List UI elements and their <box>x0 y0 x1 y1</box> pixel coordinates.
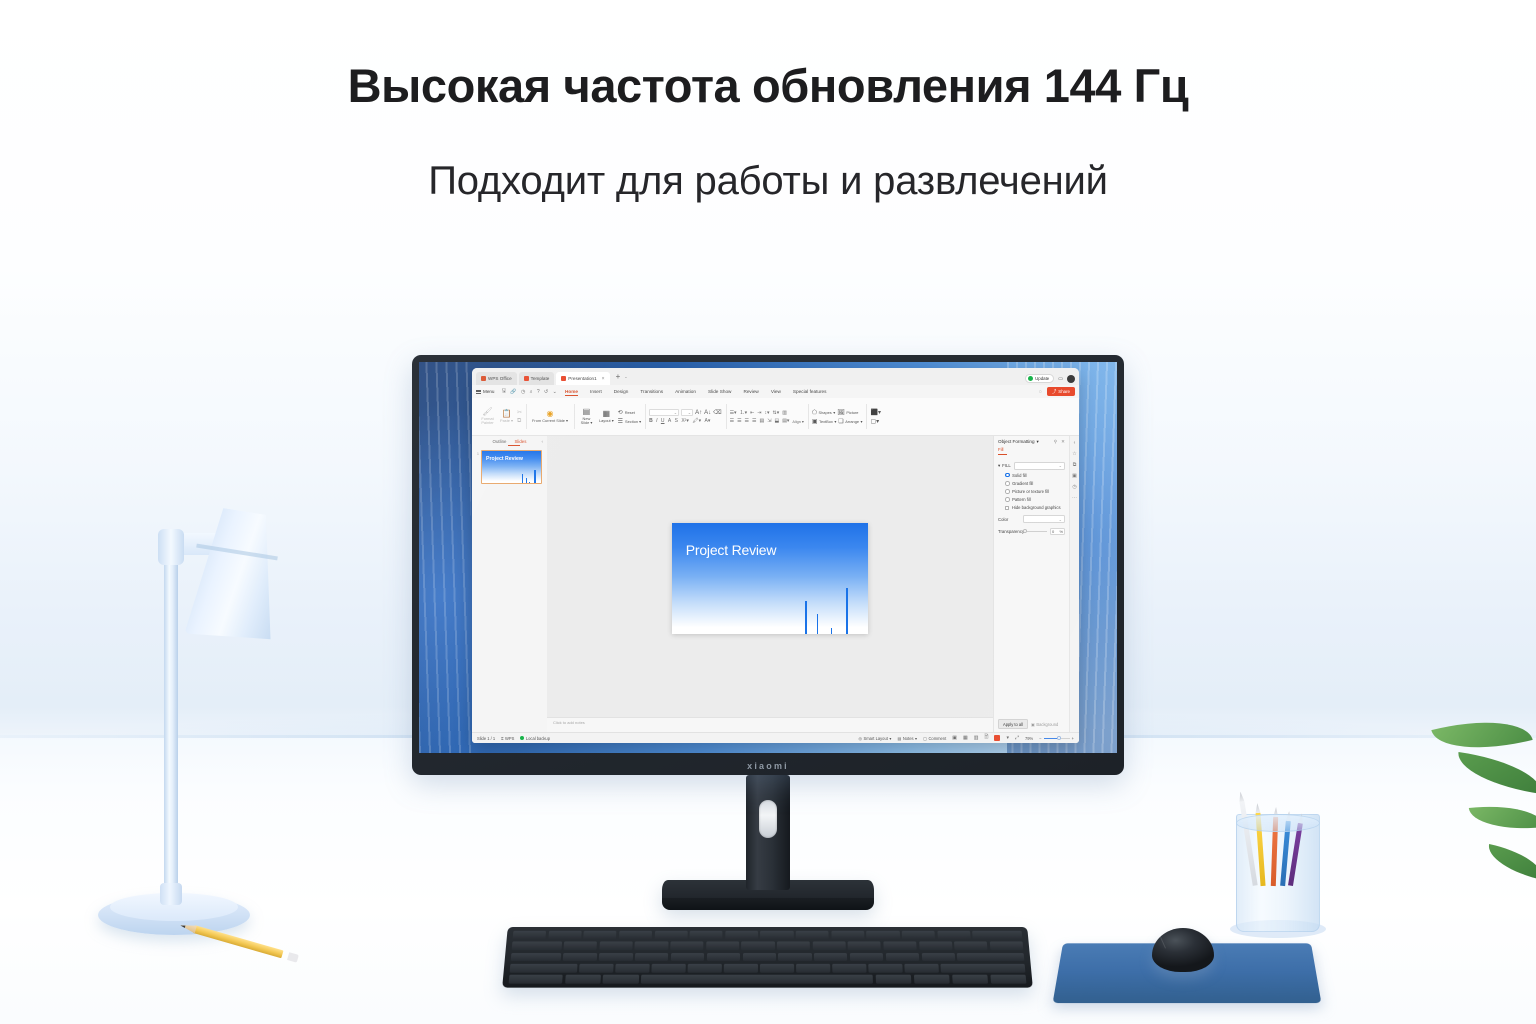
desk-lamp <box>74 495 274 935</box>
text-frame-button[interactable]: ▤▾ <box>782 418 789 424</box>
ribbon-tab-slide-show[interactable]: Slide Show <box>702 389 737 394</box>
font-color-button[interactable]: A▾ <box>705 418 711 424</box>
picture-button[interactable]: 🖼 Picture <box>837 409 858 416</box>
key <box>724 964 758 973</box>
object-formatting-panel: Object Formatting ▾ ⚲ ✕ Fill ▾ FILL <box>993 436 1069 732</box>
font-controls: ⌄ ⌄ A↑ A↓ ⌫ B I U A S X²▾ <box>649 409 722 424</box>
textbox-label: TextBox <box>819 419 833 424</box>
ribbon-tab-transitions[interactable]: Transitions <box>634 389 669 394</box>
key <box>866 931 899 939</box>
monitor-stand-cable-hole <box>759 800 777 838</box>
decrease-indent-button[interactable]: ⇤ <box>750 410 754 416</box>
ribbon-right-controls: ◌ ⤴ Share <box>1037 387 1075 396</box>
transparency-unit: % <box>1059 529 1063 534</box>
decor-bar <box>526 478 527 484</box>
plant-leaf <box>1431 707 1532 763</box>
key <box>886 953 920 962</box>
transparency-label: Transparency <box>998 529 1020 534</box>
keyboard-row <box>510 964 1026 973</box>
paragraph-controls: ☰▾ ⒈▾ ⇤ ⇥ ↕▾ ⇅▾ ▥ ☰ ☰ ☰ ☰ <box>730 409 804 424</box>
key <box>635 942 668 951</box>
copy-icon[interactable]: ⧉ <box>517 418 522 425</box>
image-icon[interactable]: ▣ <box>1072 473 1077 479</box>
drawing-row-bottom: ▣ TextBox▾ ❏ Arrange▾ <box>812 418 863 425</box>
slide-thumbnail[interactable]: Project Review <box>481 450 542 484</box>
promo-subheadline: Подходит для работы и развлечений <box>0 159 1536 204</box>
key <box>831 931 864 939</box>
key <box>548 931 581 939</box>
ribbon-tab-home[interactable]: Home <box>559 389 584 394</box>
fill-section-label: ▾ FILL <box>998 463 1011 469</box>
paste-icon: 📋 <box>502 410 512 418</box>
key <box>814 953 848 962</box>
fill-section-header-row: ▾ FILL ⌄ <box>998 462 1065 470</box>
lamp-shade <box>184 505 289 647</box>
copy-style-icon[interactable]: ⧉ <box>1073 462 1077 468</box>
zoom-slider[interactable]: − + <box>1039 736 1074 741</box>
option-label: Pattern fill <box>1012 497 1031 502</box>
align-center-button[interactable]: ☰ <box>737 418 741 424</box>
zoom-in-button[interactable]: + <box>1072 736 1074 741</box>
slide-panel-tabs: Outline Slides ‹ <box>472 436 547 447</box>
from-current-slide-label: From Current Slide ▾ <box>532 419 568 423</box>
ribbon-tab-bar: Menu 🖫 🔗 ◷ ⌕ ? ↺ ⌄ Home Insert Design Tr… <box>472 385 1079 398</box>
collapse-panel-icon[interactable]: ‹ <box>1074 440 1076 446</box>
house-plant <box>1416 700 1536 940</box>
option-solid-fill[interactable]: Solid fill <box>998 473 1065 478</box>
zoom-level-label: 79% <box>1025 736 1033 741</box>
clock-icon[interactable]: ◷ <box>1072 484 1076 490</box>
wps-body: Outline Slides ‹ 1 Project Review <box>472 436 1079 732</box>
key <box>990 975 1026 984</box>
smart-align-button[interactable]: ⇲ <box>767 418 771 424</box>
ribbon-group-styles: ⬛▾ ▢▾ <box>866 400 884 433</box>
transparency-field: Transparency 0 % <box>994 528 1069 535</box>
play-slide-icon: ◉ <box>546 410 553 418</box>
text-shadow-button[interactable]: A <box>668 418 671 424</box>
key <box>952 975 988 984</box>
line-spacing-button[interactable]: ↕▾ <box>765 410 770 416</box>
key <box>510 964 578 973</box>
wps-status[interactable]: ⌗ WPS <box>501 736 514 741</box>
chevron-left-icon[interactable]: ‹ <box>542 439 544 444</box>
radio-icon[interactable] <box>1005 481 1010 486</box>
columns-button[interactable]: ▥ <box>782 410 787 416</box>
key <box>954 942 988 951</box>
background-icon: ▣ <box>1031 722 1035 727</box>
zoom-handle[interactable] <box>1057 736 1061 740</box>
text-direction-button[interactable]: ⇅▾ <box>773 410 780 416</box>
chevron-down-icon[interactable]: ▾ <box>1006 735 1009 741</box>
status-bar-right: ◎ Smart Layout ▾ ▤ Notes ▾ ▢ Comment ▣ ▦ <box>858 734 1074 742</box>
expand-caret-icon[interactable]: ▾ <box>998 463 1000 469</box>
slide-title-text[interactable]: Project Review <box>686 542 777 558</box>
radio-icon[interactable] <box>1005 497 1010 502</box>
key <box>564 942 598 951</box>
transparency-input[interactable]: 0 % <box>1050 528 1065 535</box>
close-icon[interactable]: ✕ <box>1061 439 1065 445</box>
slide-thumbnail-panel: Outline Slides ‹ 1 Project Review <box>472 436 547 732</box>
section-button[interactable]: ☰ Section ▾ <box>618 418 641 425</box>
fit-to-window-icon[interactable]: ⤢ <box>1015 735 1019 741</box>
paragraph-row-bottom: ☰ ☰ ☰ ☰ ▤ ⇲ ⬓ ▤▾ Align ▾ <box>730 418 804 424</box>
update-button[interactable]: Update <box>1025 374 1054 383</box>
key <box>919 942 953 951</box>
share-label: Share <box>1058 389 1070 394</box>
reset-label: Reset <box>625 410 635 415</box>
key <box>941 964 1026 973</box>
pen-holder-rim <box>1236 814 1320 832</box>
ribbon-group-clipboard: 🖌 Format Painter 📋 Paste ▾ ✂ ⧉ <box>475 400 526 433</box>
option-pattern-fill[interactable]: Pattern fill <box>998 497 1065 502</box>
key <box>512 942 562 951</box>
key <box>778 953 811 962</box>
window-tab-strip: WPS Office Template Presentation1 × + ⌄ … <box>472 368 1079 385</box>
presentation-icon <box>561 376 566 381</box>
more-icon[interactable]: ⋯ <box>1072 495 1077 501</box>
chevron-down-icon[interactable]: ⌄ <box>553 389 557 395</box>
align-left-button[interactable]: ☰ <box>730 418 734 424</box>
clock-icon[interactable]: ◷ <box>521 389 525 395</box>
slide-background <box>672 523 868 633</box>
ribbon-tab-view[interactable]: View <box>765 389 787 394</box>
arrange-button[interactable]: ❏ Arrange▾ <box>838 418 862 425</box>
share-icon: ⤴ <box>1052 389 1056 395</box>
font-family-select[interactable]: ⌄ <box>649 409 679 416</box>
help-icon[interactable]: ? <box>537 389 540 395</box>
smart-layout-button[interactable]: ◎ Smart Layout ▾ <box>858 736 891 741</box>
drawing-row-top: ⬠ Shapes▾ 🖼 Picture <box>812 409 863 416</box>
ribbon-tab-design[interactable]: Design <box>608 389 635 394</box>
window-tab-label: WPS Office <box>488 376 512 381</box>
option-picture-texture-fill[interactable]: Picture or texture fill <box>998 489 1065 494</box>
link-icon[interactable]: 🔗 <box>510 389 516 395</box>
shapes-button[interactable]: ⬠ Shapes▾ <box>812 409 835 416</box>
lamp-collar <box>160 883 182 905</box>
key <box>760 964 794 973</box>
new-slide-button[interactable]: ▤ New Slide ▾ <box>578 407 595 427</box>
keyboard[interactable] <box>502 927 1033 988</box>
key <box>565 975 601 984</box>
textbox-button[interactable]: ▣ TextBox▾ <box>812 418 836 425</box>
key <box>583 931 616 939</box>
font-size-select[interactable]: ⌄ <box>681 409 693 416</box>
slide-number-label: 1 <box>477 450 479 456</box>
key <box>848 942 881 951</box>
ribbon-tab-special-features[interactable]: Special features <box>787 389 833 394</box>
convert-smartart-button[interactable]: ⬓ <box>774 418 779 424</box>
new-slide-label: New Slide ▾ <box>581 417 593 426</box>
fill-type-select[interactable]: ⌄ <box>1014 462 1065 470</box>
new-tab-icon[interactable]: + <box>616 373 621 381</box>
key <box>761 931 794 939</box>
decor-bar <box>817 614 818 634</box>
radio-icon[interactable] <box>1005 473 1010 478</box>
ribbon-group-drawing: ⬠ Shapes▾ 🖼 Picture ▣ TextBox▾ <box>808 400 867 433</box>
paste-button[interactable]: 📋 Paste ▾ <box>498 409 515 424</box>
picture-label: Picture <box>846 410 858 415</box>
star-icon[interactable]: ☆ <box>1072 451 1076 457</box>
align-right-button[interactable]: ☰ <box>745 418 749 424</box>
notes-icon: ▤ <box>897 736 901 741</box>
avatar[interactable] <box>1067 375 1075 383</box>
key <box>654 931 687 939</box>
close-tab-icon[interactable]: × <box>602 376 605 382</box>
align-label[interactable]: Align ▾ <box>792 419 803 424</box>
wps-label: WPS <box>505 736 514 741</box>
distribute-button[interactable]: ▤ <box>760 418 765 424</box>
notes-label: Notes <box>903 736 914 741</box>
shape-fill-icon[interactable]: ⬛▾ <box>870 409 880 416</box>
key <box>833 964 867 973</box>
italic-button[interactable]: I <box>656 418 657 424</box>
decor-bar <box>522 474 523 483</box>
panel-header: Object Formatting ▾ ⚲ ✕ <box>994 436 1069 447</box>
monitor-stand-base-front <box>662 898 874 910</box>
key <box>690 931 723 939</box>
background-button[interactable]: ▣ Background <box>1031 722 1058 727</box>
justify-button[interactable]: ☰ <box>752 418 756 424</box>
key <box>902 931 935 939</box>
layout-label: Layout ▾ <box>599 419 614 423</box>
window-tab-wps-office[interactable]: WPS Office <box>476 372 517 385</box>
chevron-down-icon[interactable]: ▾ <box>915 736 917 741</box>
layout-toggle-icon[interactable]: ▭ <box>1058 376 1063 382</box>
shape-outline-icon[interactable]: ▢▾ <box>870 418 880 425</box>
backup-label: Local backup <box>526 736 550 741</box>
wps-logo-icon <box>481 376 486 381</box>
zoom-out-button[interactable]: − <box>1039 736 1041 741</box>
menu-button[interactable]: Menu <box>476 389 500 395</box>
format-painter-button[interactable]: 🖌 Format Painter <box>479 407 496 427</box>
clear-format-icon[interactable]: ⌫ <box>713 409 721 416</box>
slide-canvas-wrap: Project Review <box>547 436 993 717</box>
key <box>972 931 1022 939</box>
shapes-label: Shapes <box>819 410 832 415</box>
key <box>741 942 774 951</box>
key <box>513 931 547 939</box>
ribbon-toolbar: 🖌 Format Painter 📋 Paste ▾ ✂ ⧉ ◉ <box>472 398 1079 436</box>
key <box>742 953 775 962</box>
status-bar: Slide 1 / 1 ⌗ WPS Local backup ◎ Smart L… <box>472 732 1079 743</box>
window-tab-label: Presentation1 <box>568 376 596 381</box>
lamp-pole <box>164 539 178 889</box>
panel-title-caret[interactable]: ▾ <box>1037 439 1039 445</box>
panel-title: Object Formatting <box>998 439 1035 444</box>
arrange-icon: ❏ <box>838 418 843 425</box>
numbering-button[interactable]: ⒈▾ <box>740 409 748 416</box>
superscript-button[interactable]: X²▾ <box>681 418 689 424</box>
decrease-font-icon[interactable]: A↓ <box>704 410 711 416</box>
key <box>937 931 970 939</box>
pin-icon[interactable]: ⚲ <box>1054 439 1057 445</box>
panel-tab-fill[interactable]: Fill <box>994 447 1069 456</box>
keyboard-row <box>511 953 1025 962</box>
transparency-slider[interactable] <box>1023 529 1047 533</box>
key <box>796 964 830 973</box>
fill-section: ▾ FILL ⌄ Solid fill Gradient fill <box>994 456 1069 510</box>
wps-icon: ⌗ <box>501 736 503 741</box>
chevron-down-icon[interactable]: ▾ <box>889 736 891 741</box>
tab-outline[interactable]: Outline <box>493 439 507 444</box>
font-row-bottom: B I U A S X²▾ 🖍▾ A▾ <box>649 418 722 424</box>
key <box>905 964 939 973</box>
key <box>777 942 810 951</box>
window-tab-presentation1[interactable]: Presentation1 × <box>556 372 609 385</box>
increase-indent-button[interactable]: ⇥ <box>757 410 761 416</box>
chevron-down-icon[interactable]: ⌄ <box>624 374 627 379</box>
bullets-button[interactable]: ☰▾ <box>730 410 737 416</box>
option-label: Solid fill <box>1012 473 1026 478</box>
slide-canvas[interactable]: Project Review <box>672 523 868 633</box>
layout-button[interactable]: ▦ Layout ▾ <box>597 409 616 424</box>
keyboard-row <box>513 931 1023 939</box>
ribbon-group-presentation: ◉ From Current Slide ▾ <box>526 400 574 433</box>
background-label: Background <box>1036 722 1058 727</box>
plant-leaf <box>1469 800 1536 835</box>
comment-icon: ▢ <box>923 736 927 741</box>
option-label: Hide background graphics <box>1012 505 1061 510</box>
slider-track[interactable] <box>1027 531 1047 532</box>
ribbon-group-slides: ▤ New Slide ▾ ▦ Layout ▾ ⟲ Reset ☰ <box>574 400 645 433</box>
checkbox-icon[interactable] <box>1005 506 1009 510</box>
sorter-view-icon[interactable]: ▦ <box>963 735 968 741</box>
slide-count-status: Slide 1 / 1 <box>477 736 495 741</box>
zoom-fill <box>1044 738 1057 739</box>
share-button[interactable]: ⤴ Share <box>1047 387 1075 396</box>
increase-font-icon[interactable]: A↑ <box>695 410 702 416</box>
key <box>707 953 740 962</box>
key <box>876 975 912 984</box>
key <box>796 931 829 939</box>
mouse-button-split <box>1159 934 1166 948</box>
reset-icon: ⟲ <box>618 409 623 416</box>
hamburger-icon <box>476 389 481 395</box>
key <box>688 964 722 973</box>
key <box>990 942 1024 951</box>
key <box>869 964 903 973</box>
monitor-screen: WPS Office Template Presentation1 × + ⌄ … <box>419 362 1117 753</box>
smart-layout-label: Smart Layout <box>864 736 888 741</box>
ribbon-tab-insert[interactable]: Insert <box>584 389 608 394</box>
space-key <box>641 975 873 984</box>
format-painter-label: Format Painter <box>481 417 493 426</box>
layout-icon: ▦ <box>603 410 611 418</box>
key <box>509 975 563 984</box>
text-highlight-button[interactable]: 🖍▾ <box>692 418 701 424</box>
undo-icon[interactable]: ↺ <box>544 389 548 395</box>
strikethrough-button[interactable]: S <box>675 418 678 424</box>
option-hide-background-graphics[interactable]: Hide background graphics <box>998 505 1065 510</box>
ribbon-group-font: ⌄ ⌄ A↑ A↓ ⌫ B I U A S X²▾ <box>645 400 726 433</box>
lamp-joint <box>158 529 184 565</box>
color-label: Color <box>998 517 1020 522</box>
comment-button[interactable]: ▢ Comment <box>923 736 946 741</box>
update-label: Update <box>1035 376 1049 381</box>
option-label: Gradient fill <box>1012 481 1033 486</box>
cut-copy-column: ✂ ⧉ <box>517 409 522 425</box>
key <box>921 953 955 962</box>
color-select[interactable]: ⌄ <box>1023 515 1065 523</box>
speaker-notes-area[interactable]: Click to add notes <box>547 717 993 732</box>
style-controls: ⬛▾ ▢▾ <box>870 409 880 425</box>
ribbon-tab-review[interactable]: Review <box>737 389 764 394</box>
wallpaper-streak-left <box>419 362 471 753</box>
paste-label: Paste ▾ <box>500 419 513 423</box>
zoom-track[interactable] <box>1044 738 1070 739</box>
slide-edit-area: Project Review Click to add notes <box>547 436 993 732</box>
backup-status[interactable]: Local backup <box>520 736 550 741</box>
save-icon[interactable]: 🖫 <box>502 388 506 396</box>
right-icon-rail: ‹ ☆ ⧉ ▣ ◷ ⋯ <box>1069 436 1079 732</box>
key <box>883 942 916 951</box>
picture-icon: 🖼 <box>837 409 845 416</box>
key <box>850 953 884 962</box>
key <box>603 975 639 984</box>
wps-office-window: WPS Office Template Presentation1 × + ⌄ … <box>472 368 1079 743</box>
window-tab-template[interactable]: Template <box>519 372 555 385</box>
monitor: xiaomi WPS Office Template Presenta <box>412 355 1124 775</box>
notes-button[interactable]: ▤ Notes ▾ <box>897 736 917 741</box>
format-painter-icon: 🖌 <box>482 408 492 416</box>
key <box>599 942 632 951</box>
apply-to-all-button[interactable]: Apply to all <box>998 719 1028 729</box>
pencil-eraser <box>287 952 299 962</box>
decor-bar <box>805 601 806 634</box>
ribbon-tab-animation[interactable]: Animation <box>669 389 702 394</box>
decor-bar <box>529 482 530 484</box>
normal-view-icon[interactable]: ▣ <box>952 735 957 741</box>
key <box>725 931 758 939</box>
from-current-slide-button[interactable]: ◉ From Current Slide ▾ <box>530 409 570 424</box>
template-icon <box>524 376 529 381</box>
reset-button[interactable]: ⟲ Reset <box>618 409 641 416</box>
smart-layout-icon: ◎ <box>858 736 862 741</box>
bold-button[interactable]: B <box>649 418 653 424</box>
window-controls: Update ▭ <box>1025 374 1075 385</box>
fill-label-text: FILL <box>1002 463 1011 468</box>
backup-status-icon <box>520 736 524 740</box>
key <box>914 975 950 984</box>
search-icon[interactable]: ⌕ <box>530 389 533 395</box>
ribbon-group-paragraph: ☰▾ ⒈▾ ⇤ ⇥ ↕▾ ⇅▾ ▥ ☰ ☰ ☰ ☰ <box>726 400 808 433</box>
decor-bar <box>534 470 535 483</box>
keyboard-row <box>509 975 1027 984</box>
comment-label: Comment <box>928 736 946 741</box>
update-status-icon <box>1028 376 1033 381</box>
panel-footer: Apply to all ▣ Background <box>994 716 1069 732</box>
cut-icon[interactable]: ✂ <box>517 409 522 416</box>
underline-button[interactable]: U <box>661 418 665 424</box>
drawing-controls: ⬠ Shapes▾ 🖼 Picture ▣ TextBox▾ <box>812 409 863 425</box>
play-presentation-icon[interactable] <box>994 735 1000 741</box>
option-gradient-fill[interactable]: Gradient fill <box>998 481 1065 486</box>
tab-slides[interactable]: Slides <box>514 439 526 444</box>
color-field: Color ⌄ <box>994 515 1069 523</box>
keyboard-row <box>512 942 1024 951</box>
reading-view-icon[interactable]: ▥ <box>974 735 979 741</box>
note-icon[interactable]: 🗎 <box>984 734 988 742</box>
radio-icon[interactable] <box>1005 489 1010 494</box>
panel-header-actions: ⚲ ✕ <box>1054 439 1065 445</box>
key <box>670 942 703 951</box>
slide-thumbnail-item[interactable]: 1 Project Review <box>472 447 547 487</box>
textbox-icon: ▣ <box>812 418 818 425</box>
key <box>599 953 633 962</box>
paragraph-row-top: ☰▾ ⒈▾ ⇤ ⇥ ↕▾ ⇅▾ ▥ <box>730 409 804 416</box>
thumbnail-title: Project Review <box>486 456 523 462</box>
cloud-icon[interactable]: ◌ <box>1039 389 1042 395</box>
